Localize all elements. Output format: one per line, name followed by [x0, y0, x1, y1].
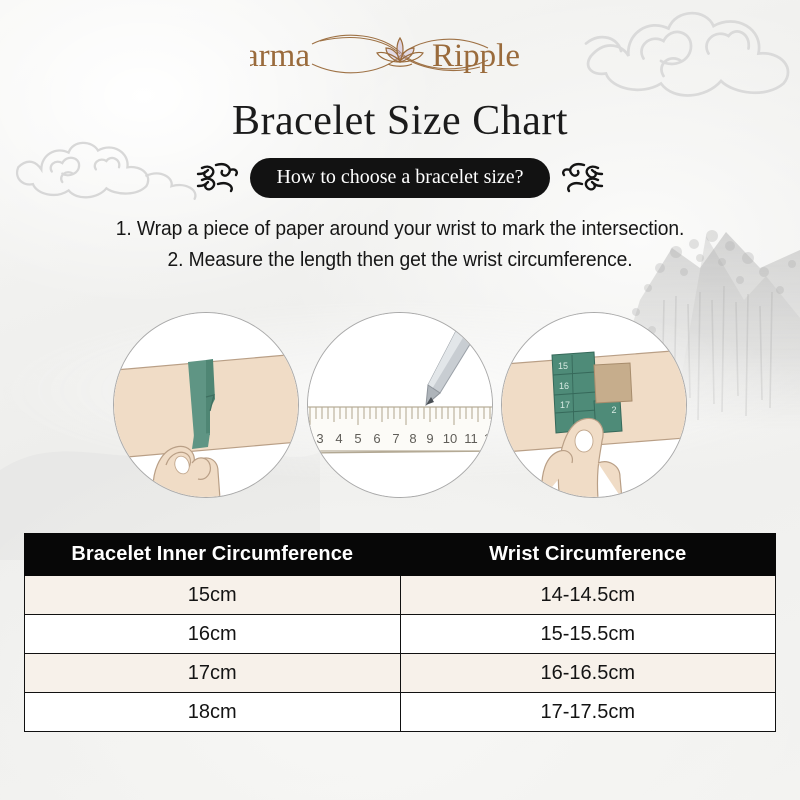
cell-wrist-size: 16-16.5cm [400, 654, 776, 693]
table-row: 16cm 15-15.5cm [25, 615, 776, 654]
how-to-badge: How to choose a bracelet size? [250, 158, 549, 198]
cell-bracelet-size: 18cm [25, 693, 401, 732]
cell-wrist-size: 14-14.5cm [400, 576, 776, 615]
cell-bracelet-size: 16cm [25, 615, 401, 654]
svg-text:11: 11 [464, 431, 478, 446]
brand-logo: Karma Ripple [0, 26, 800, 84]
brand-name-left: Karma [250, 38, 310, 74]
cell-bracelet-size: 15cm [25, 576, 401, 615]
column-header-bracelet-inner-circumference: Bracelet Inner Circumference [25, 534, 401, 576]
page-title: Bracelet Size Chart [0, 96, 800, 146]
instruction-step-1: 1. Wrap a piece of paper around your wri… [24, 213, 776, 244]
brand-name-right: Ripple [432, 38, 520, 74]
svg-text:6: 6 [373, 431, 380, 446]
column-header-wrist-circumference: Wrist Circumference [400, 534, 776, 576]
svg-text:10: 10 [443, 431, 457, 446]
instruction-step-2: 2. Measure the length then get the wrist… [24, 244, 776, 275]
svg-text:15: 15 [558, 361, 568, 371]
size-chart-page: Karma Ripple Bracelet Size Chart How to … [0, 0, 800, 800]
illustration-read-tape-measure: 151617 2 [501, 312, 687, 498]
cell-wrist-size: 17-17.5cm [400, 693, 776, 732]
bracelet-size-table: Bracelet Inner Circumference Wrist Circu… [24, 533, 776, 732]
svg-text:12: 12 [484, 431, 493, 446]
svg-text:7: 7 [392, 431, 399, 446]
illustration-wrap-paper-around-wrist [113, 312, 299, 498]
cell-bracelet-size: 17cm [25, 654, 401, 693]
table-row: 18cm 17-17.5cm [25, 693, 776, 732]
table-row: 15cm 14-14.5cm [25, 576, 776, 615]
svg-text:17: 17 [560, 400, 570, 410]
table-header-row: Bracelet Inner Circumference Wrist Circu… [25, 534, 776, 576]
how-to-badge-row: How to choose a bracelet size? [0, 158, 800, 198]
table-row: 17cm 16-16.5cm [25, 654, 776, 693]
karma-ripple-logo-mark: Karma Ripple [250, 26, 550, 84]
flourish-ornament-left-icon [196, 160, 240, 196]
flourish-ornament-right-icon [560, 160, 604, 196]
svg-text:3: 3 [316, 431, 323, 446]
instruction-list: 1. Wrap a piece of paper around your wri… [0, 213, 800, 275]
svg-text:4: 4 [335, 431, 342, 446]
svg-text:16: 16 [559, 381, 569, 391]
cell-wrist-size: 15-15.5cm [400, 615, 776, 654]
svg-text:8: 8 [409, 431, 416, 446]
illustration-measure-with-ruler: 345 678 91011 12 [307, 312, 493, 498]
svg-text:5: 5 [354, 431, 361, 446]
illustration-row: 345 678 91011 12 [0, 312, 800, 498]
svg-text:2: 2 [611, 405, 616, 415]
svg-text:9: 9 [426, 431, 433, 446]
